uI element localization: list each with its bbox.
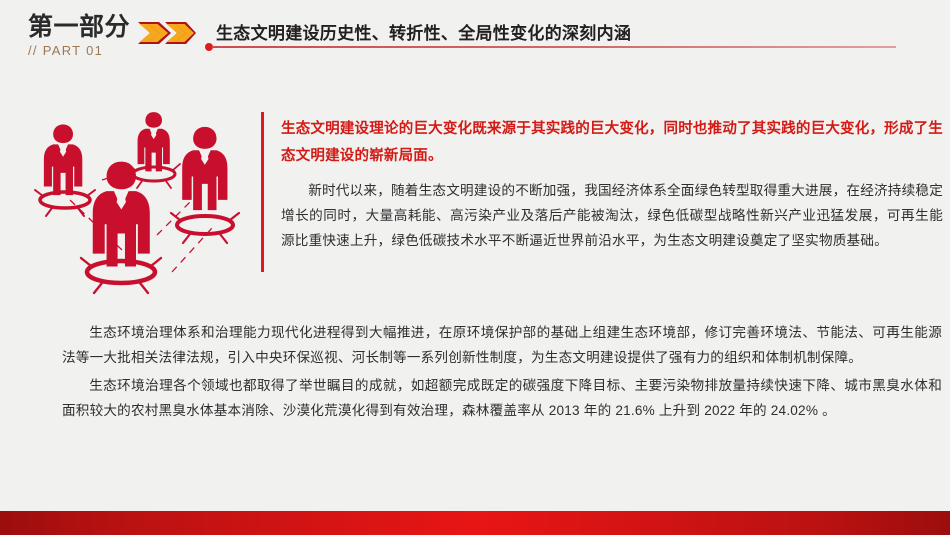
lead-statement: 生态文明建设理论的巨大变化既来源于其实践的巨大变化，同时也推动了其实践的巨大变化… [281, 116, 943, 170]
lower-text-block: 生态环境治理体系和治理能力现代化进程得到大幅推进，在原环境保护部的基础上组建生态… [62, 320, 942, 423]
business-people-network-icon [30, 100, 260, 295]
footer-bar [0, 511, 950, 535]
paragraph-1: 新时代以来，随着生态文明建设的不断加强，我国经济体系全面绿色转型取得重大进展，在… [281, 178, 943, 253]
part-title-cn: 第一部分 [28, 13, 148, 41]
slide: 第一部分 // PART 01 生态文明建设历史性、转折性、全局性变化的深刻内涵 [0, 0, 950, 535]
vertical-accent-rule [261, 112, 264, 272]
part-label-block: 第一部分 // PART 01 [28, 13, 148, 59]
slide-header: 第一部分 // PART 01 生态文明建设历史性、转折性、全局性变化的深刻内涵 [0, 0, 950, 66]
top-text-block: 生态文明建设理论的巨大变化既来源于其实践的巨大变化，同时也推动了其实践的巨大变化… [281, 116, 943, 253]
page-title: 生态文明建设历史性、转折性、全局性变化的深刻内涵 [216, 19, 631, 44]
paragraph-2: 生态环境治理体系和治理能力现代化进程得到大幅推进，在原环境保护部的基础上组建生态… [62, 320, 942, 370]
double-chevron-right-icon [137, 20, 197, 46]
paragraph-3: 生态环境治理各个领域也都取得了举世瞩目的成就，如超额完成既定的碳强度下降目标、主… [62, 373, 942, 423]
part-title-en: // PART 01 [28, 42, 148, 59]
header-divider [212, 46, 896, 48]
